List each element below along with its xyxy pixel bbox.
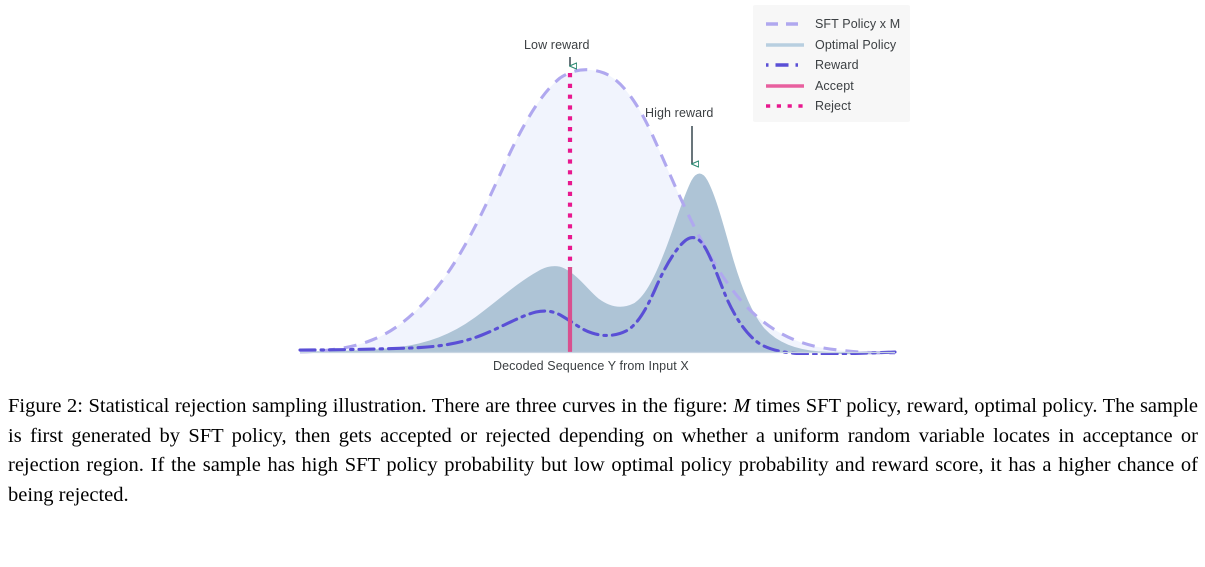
legend-label-reject: Reject [815, 99, 851, 113]
reward-key-icon [765, 58, 805, 72]
accept-key-icon [765, 79, 805, 93]
annotation-high-reward: High reward [645, 106, 714, 120]
legend-label-accept: Accept [815, 79, 854, 93]
legend-item-reward: Reward [753, 55, 910, 76]
optimal-policy-key-icon [765, 38, 805, 52]
reject-key-icon [765, 99, 805, 113]
annotation-low-reward: Low reward [524, 38, 590, 52]
caption-figure-number: Figure 2: [8, 395, 83, 417]
legend-item-accept: Accept [753, 76, 910, 97]
legend-label-sft-policy: SFT Policy x M [815, 17, 900, 31]
legend-label-optimal-policy: Optimal Policy [815, 38, 896, 52]
legend-item-sft-policy: SFT Policy x M [753, 14, 910, 35]
figure-region: Low reward High reward Decoded Sequence … [0, 0, 1205, 382]
figure-page: Low reward High reward Decoded Sequence … [0, 0, 1205, 567]
legend-item-reject: Reject [753, 96, 910, 117]
legend-item-optimal-policy: Optimal Policy [753, 35, 910, 56]
chart-legend: SFT Policy x M Optimal Policy Reward [753, 5, 910, 122]
caption-math-variable: M [733, 395, 750, 417]
legend-label-reward: Reward [815, 58, 859, 72]
caption-part1: Statistical rejection sampling illustrat… [83, 395, 733, 417]
figure-caption: Figure 2: Statistical rejection sampling… [8, 392, 1198, 510]
chart-plot [0, 0, 1205, 382]
sft-policy-key-icon [765, 17, 805, 31]
x-axis-label: Decoded Sequence Y from Input X [493, 359, 689, 373]
